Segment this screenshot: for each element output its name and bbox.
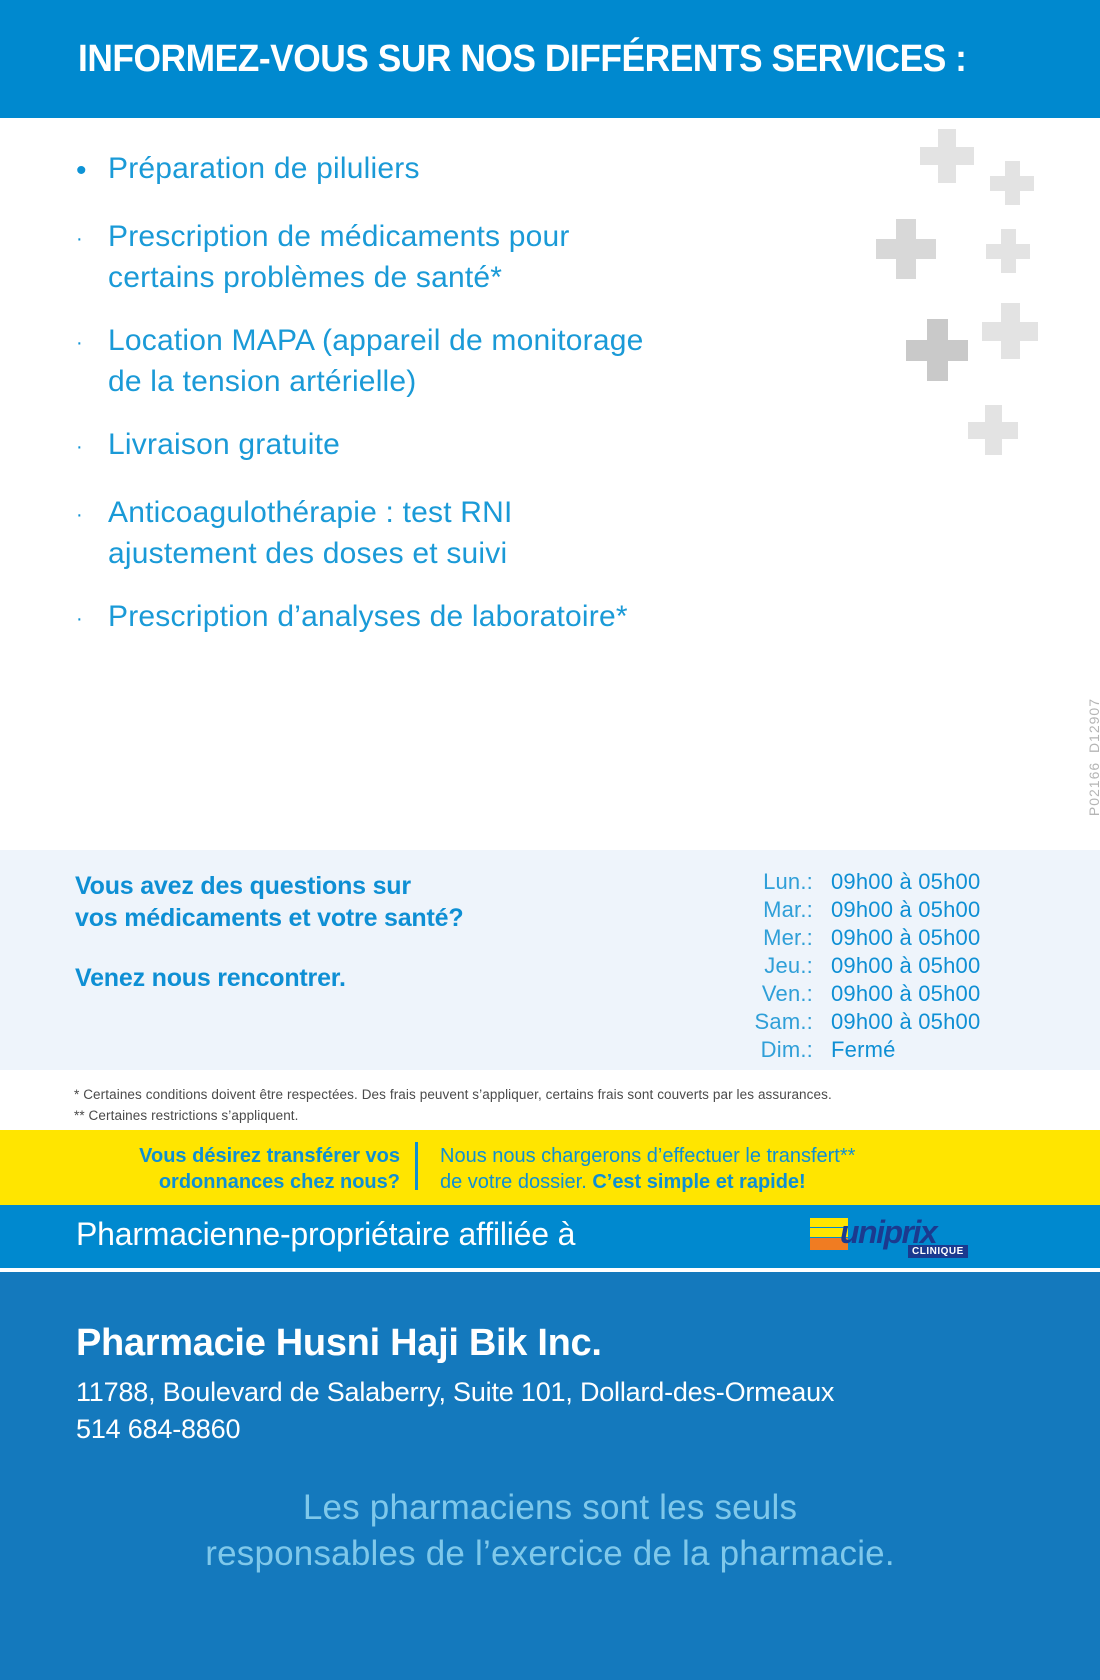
vertical-divider <box>415 1142 418 1190</box>
service-item: · Prescription de médicaments pour certa… <box>70 216 770 298</box>
bullet-icon: • <box>70 148 108 194</box>
bullet-icon: · <box>70 216 108 262</box>
plus-icon <box>982 303 1038 359</box>
hours-row: Lun.: 09h00 à 05h00 <box>735 869 1035 897</box>
pharmacy-address: 11788, Boulevard de Salaberry, Suite 101… <box>76 1377 834 1408</box>
hours-value: 09h00 à 05h00 <box>813 897 980 923</box>
transfer-prescriptions-band: Vous désirez transférer vos ordonnances … <box>0 1130 1100 1205</box>
bullet-icon: · <box>70 596 108 642</box>
plus-icon <box>876 219 936 279</box>
service-line: ajustement des doses et suivi <box>108 533 513 574</box>
hours-day-label: Mar.: <box>735 897 813 923</box>
transfer-answer-plain: de votre dossier. <box>440 1171 592 1193</box>
transfer-answer-line-2: de votre dossier. C’est simple et rapide… <box>440 1169 1040 1195</box>
service-item: · Location MAPA (appareil de monitorage … <box>70 320 770 402</box>
uniprix-logo: uniprix CLINIQUE <box>810 1215 970 1259</box>
hours-row: Sam.: 09h00 à 05h00 <box>735 1009 1035 1037</box>
hours-day-label: Ven.: <box>735 981 813 1007</box>
service-item: · Livraison gratuite <box>70 424 770 470</box>
plus-icon <box>986 229 1030 273</box>
footnote-double-asterisk: ** Certaines restrictions s’appliquent. <box>74 1108 299 1123</box>
service-line: Livraison gratuite <box>108 424 340 465</box>
transfer-question: Vous désirez transférer vos ordonnances … <box>0 1143 400 1195</box>
cross-pattern-decoration <box>810 123 1070 473</box>
questions-block: Vous avez des questions sur vos médicame… <box>75 870 635 994</box>
hours-value: 09h00 à 05h00 <box>813 953 980 979</box>
service-line: Prescription d’analyses de laboratoire* <box>108 596 628 637</box>
plus-icon <box>990 161 1034 205</box>
questions-line-1: Vous avez des questions sur <box>75 870 635 902</box>
hours-value: 09h00 à 05h00 <box>813 1009 980 1035</box>
service-line: de la tension artérielle) <box>108 361 644 402</box>
hours-day-label: Jeu.: <box>735 953 813 979</box>
service-line: Anticoagulothérapie : test RNI <box>108 492 513 533</box>
service-line: Préparation de piluliers <box>108 148 420 189</box>
uniprix-clinique-badge: CLINIQUE <box>908 1245 968 1258</box>
hours-day-label: Lun.: <box>735 869 813 895</box>
hours-day-label: Sam.: <box>735 1009 813 1035</box>
legal-disclaimer: Les pharmaciens sont les seuls responsab… <box>0 1485 1100 1577</box>
hours-row: Ven.: 09h00 à 05h00 <box>735 981 1035 1009</box>
opening-hours-table: Lun.: 09h00 à 05h00 Mar.: 09h00 à 05h00 … <box>735 869 1035 1065</box>
plus-icon <box>920 129 974 183</box>
hours-value: 09h00 à 05h00 <box>813 925 980 951</box>
service-item: · Prescription d’analyses de laboratoire… <box>70 596 770 642</box>
bullet-icon: · <box>70 424 108 470</box>
disclaimer-line-1: Les pharmaciens sont les seuls <box>0 1485 1100 1531</box>
service-item: • Préparation de piluliers <box>70 148 770 194</box>
service-item: · Anticoagulothérapie : test RNI ajustem… <box>70 492 770 574</box>
service-line: Prescription de médicaments pour <box>108 216 570 257</box>
service-label: Préparation de piluliers <box>108 148 420 189</box>
service-label: Prescription d’analyses de laboratoire* <box>108 596 628 637</box>
footnotes-section: * Certaines conditions doivent être resp… <box>0 1070 1100 1130</box>
hours-row: Jeu.: 09h00 à 05h00 <box>735 953 1035 981</box>
hours-value: 09h00 à 05h00 <box>813 869 980 895</box>
pharmacy-footer: Pharmacie Husni Haji Bik Inc. 11788, Bou… <box>0 1272 1100 1680</box>
hours-day-label: Dim.: <box>735 1037 813 1063</box>
pharmacy-name: Pharmacie Husni Haji Bik Inc. <box>76 1322 602 1365</box>
plus-icon <box>906 319 968 381</box>
service-line: Location MAPA (appareil de monitorage <box>108 320 644 361</box>
questions-line-3: Venez nous rencontrer. <box>75 962 635 994</box>
service-label: Location MAPA (appareil de monitorage de… <box>108 320 644 402</box>
page-title: INFORMEZ-VOUS SUR NOS DIFFÉRENTS SERVICE… <box>78 38 966 81</box>
spacer <box>75 934 635 962</box>
service-label: Livraison gratuite <box>108 424 340 465</box>
affiliate-band: Pharmacienne-propriétaire affiliée à uni… <box>0 1205 1100 1268</box>
header-band: INFORMEZ-VOUS SUR NOS DIFFÉRENTS SERVICE… <box>0 0 1100 118</box>
transfer-answer-line-1: Nous nous chargerons d’effectuer le tran… <box>440 1143 1040 1169</box>
pharmacy-phone: 514 684-8860 <box>76 1414 240 1445</box>
disclaimer-line-2: responsables de l’exercice de la pharmac… <box>0 1531 1100 1577</box>
hours-row: Dim.: Fermé <box>735 1037 1035 1065</box>
bullet-icon: · <box>70 320 108 366</box>
questions-line-2: vos médicaments et votre santé? <box>75 902 635 934</box>
services-list: • Préparation de piluliers · Prescriptio… <box>70 148 770 664</box>
transfer-answer: Nous nous chargerons d’effectuer le tran… <box>440 1143 1040 1195</box>
footnote-single-asterisk: * Certaines conditions doivent être resp… <box>74 1087 832 1102</box>
bullet-icon: · <box>70 492 108 538</box>
plus-icon <box>968 405 1018 455</box>
reference-code: P02166_D12907 <box>1086 698 1100 816</box>
hours-row: Mar.: 09h00 à 05h00 <box>735 897 1035 925</box>
transfer-question-line-1: Vous désirez transférer vos <box>0 1143 400 1169</box>
transfer-answer-bold: C’est simple et rapide! <box>592 1171 805 1193</box>
hours-day-label: Mer.: <box>735 925 813 951</box>
services-section: • Préparation de piluliers · Prescriptio… <box>0 118 1100 850</box>
transfer-question-line-2: ordonnances chez nous? <box>0 1169 400 1195</box>
questions-hours-section: Vous avez des questions sur vos médicame… <box>0 850 1100 1070</box>
affiliate-text: Pharmacienne-propriétaire affiliée à <box>76 1216 575 1253</box>
service-label: Prescription de médicaments pour certain… <box>108 216 570 298</box>
hours-row: Mer.: 09h00 à 05h00 <box>735 925 1035 953</box>
hours-value: 09h00 à 05h00 <box>813 981 980 1007</box>
hours-value: Fermé <box>813 1037 896 1063</box>
service-line: certains problèmes de santé* <box>108 257 570 298</box>
service-label: Anticoagulothérapie : test RNI ajustemen… <box>108 492 513 574</box>
